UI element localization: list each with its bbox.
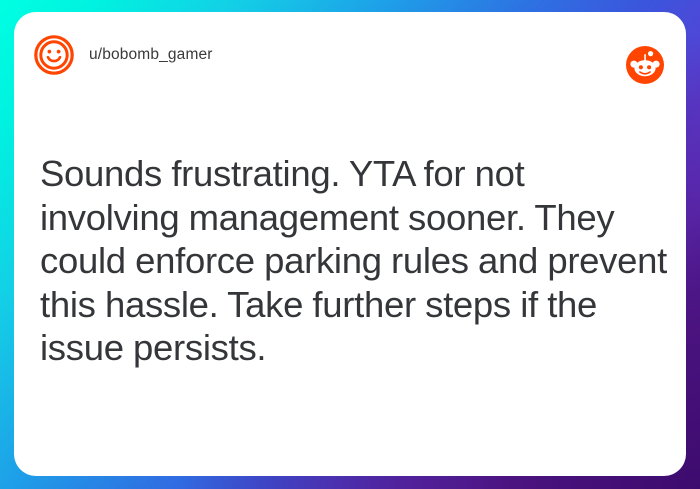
card-header: u/bobomb_gamer [14,12,686,98]
gradient-background: u/bobomb_gamer Sounds fru [0,0,700,489]
post-body-text: Sounds frustrating. YTA for not involvin… [40,152,668,370]
smiley-face-avatar-icon [33,34,75,76]
reddit-comment-card: u/bobomb_gamer Sounds fru [14,12,686,476]
username-label: u/bobomb_gamer [89,46,213,64]
reddit-snoo-icon [626,46,664,84]
